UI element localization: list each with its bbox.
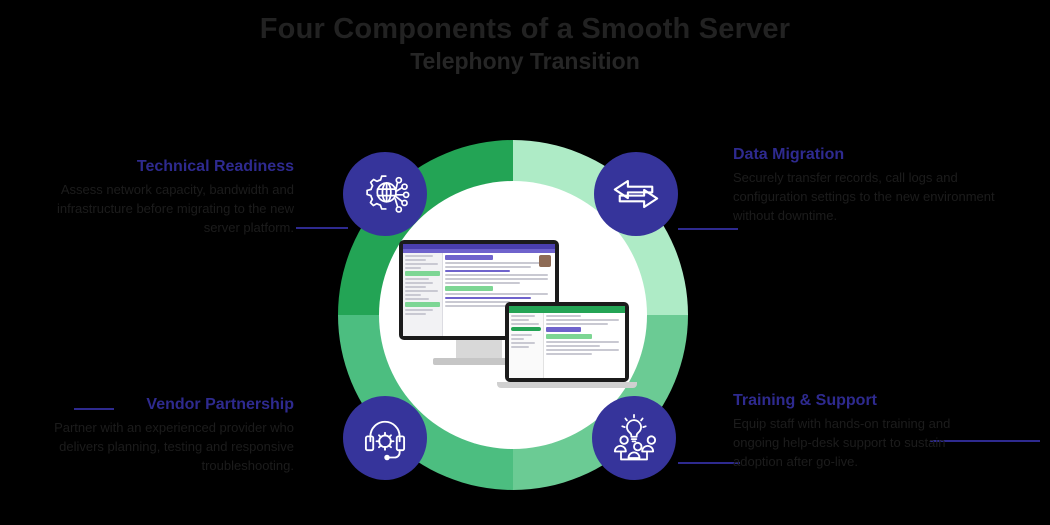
laptop-app-titlebar [509,306,625,313]
page-title: Four Components of a Smooth Server [0,14,1050,46]
transfer-arrows-icon [610,168,662,220]
callout-body-training-support: Equip staff with hands-on training and o… [733,415,995,472]
callout-heading-technical-readiness: Technical Readiness [32,158,294,176]
callout-heading-training-support: Training & Support [733,392,995,410]
badge-technical-readiness[interactable] [343,152,427,236]
laptop-app-content [544,313,625,378]
callout-body-data-migration: Securely transfer records, call logs and… [733,169,995,226]
callout-data-migration: Data Migration Securely transfer records… [733,146,995,226]
headset-support-icon [359,412,411,464]
monitor-stand-neck [456,340,502,358]
callout-vendor-partnership: Vendor Partnership Partner with an exper… [32,396,294,476]
laptop-app-sidebar [509,313,544,378]
callout-technical-readiness: Technical Readiness Assess network capac… [32,158,294,238]
connector-data-migration [678,228,738,230]
callout-body-technical-readiness: Assess network capacity, bandwidth and i… [32,181,294,238]
device-mockup-group [397,240,629,390]
title-block: Four Components of a Smooth Server Telep… [0,14,1050,75]
callout-training-support: Training & Support Equip staff with hand… [733,392,995,472]
callout-heading-data-migration: Data Migration [733,146,995,164]
callout-heading-vendor-partnership: Vendor Partnership [32,396,294,414]
gear-network-globe-icon [359,168,411,220]
app-sidebar [403,253,443,336]
laptop-screen [509,306,625,378]
badge-data-migration[interactable] [594,152,678,236]
laptop-base [497,382,637,388]
badge-vendor-partnership[interactable] [343,396,427,480]
avatar [539,255,551,267]
infographic-canvas: Four Components of a Smooth Server Telep… [0,0,1050,525]
connector-technical-readiness [296,227,348,229]
laptop-app-body [509,313,625,378]
laptop-mockup [505,302,629,388]
laptop-bezel [505,302,629,382]
lightbulb-team-icon [608,412,660,464]
connector-training-support [678,462,740,464]
callout-body-vendor-partnership: Partner with an experienced provider who… [32,419,294,476]
page-subtitle: Telephony Transition [0,48,1050,76]
badge-training-support[interactable] [592,396,676,480]
